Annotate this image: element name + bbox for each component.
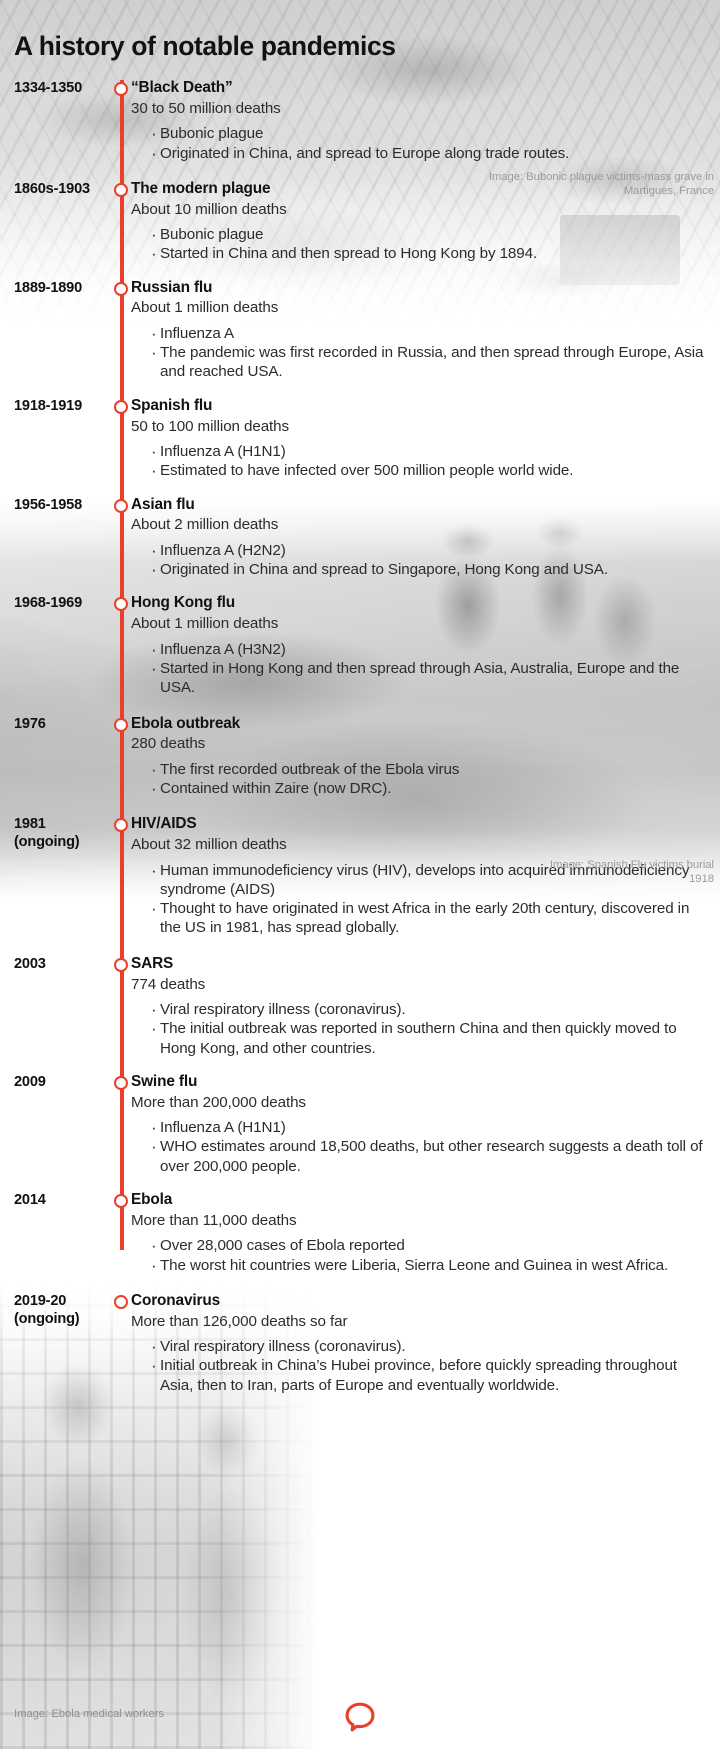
timeline-event: 1976Ebola outbreak280 deathsThe first re…	[0, 715, 720, 803]
timeline-event: 2009Swine fluMore than 200,000 deathsInf…	[0, 1073, 720, 1180]
event-detail-list: Influenza A (H1N1)WHO estimates around 1…	[131, 1118, 712, 1176]
event-detail-list: Influenza AThe pandemic was first record…	[131, 324, 712, 382]
event-detail-item: The worst hit countries were Liberia, Si…	[151, 1256, 712, 1275]
event-detail-item: Over 28,000 cases of Ebola reported	[151, 1236, 712, 1255]
event-detail-item: Initial outbreak in China’s Hubei provin…	[151, 1356, 712, 1395]
event-detail-list: Viral respiratory illness (coronavirus).…	[131, 1000, 712, 1058]
timeline-event: 2003SARS774 deathsViral respiratory illn…	[0, 955, 720, 1062]
event-detail-item: Originated in China and spread to Singap…	[151, 560, 712, 579]
photo-credit-ebola: Image: Ebola medical workers	[14, 1707, 194, 1721]
timeline-marker-icon	[114, 499, 128, 513]
event-name: SARS	[131, 955, 712, 974]
timeline-event: 1860s-1903The modern plagueAbout 10 mill…	[0, 180, 720, 268]
event-year: 2009	[0, 1074, 106, 1092]
event-detail-item: Thought to have originated in west Afric…	[151, 899, 712, 938]
event-year: 1976	[0, 716, 106, 734]
event-year: 1334-1350	[0, 80, 106, 98]
timeline-marker-icon	[114, 1076, 128, 1090]
event-detail-list: Influenza A (H3N2)Started in Hong Kong a…	[131, 640, 712, 698]
timeline-event: 2019-20 (ongoing)CoronavirusMore than 12…	[0, 1292, 720, 1399]
event-name: Ebola	[131, 1191, 712, 1210]
event-year: 1981 (ongoing)	[0, 816, 106, 852]
timeline-marker-icon	[114, 1295, 128, 1309]
event-year: 1860s-1903	[0, 181, 106, 199]
event-death-toll: About 2 million deaths	[131, 515, 712, 534]
timeline-event: 1334-1350“Black Death”30 to 50 million d…	[0, 79, 720, 167]
timeline-marker-icon	[114, 400, 128, 414]
event-death-toll: More than 126,000 deaths so far	[131, 1312, 712, 1331]
event-death-toll: More than 11,000 deaths	[131, 1211, 712, 1230]
event-death-toll: About 1 million deaths	[131, 298, 712, 317]
timeline-event-list: 1334-1350“Black Death”30 to 50 million d…	[0, 79, 720, 1399]
event-detail-item: Viral respiratory illness (coronavirus).	[151, 1000, 712, 1019]
timeline-event: 1918-1919Spanish flu50 to 100 million de…	[0, 397, 720, 485]
event-name: HIV/AIDS	[131, 815, 712, 834]
event-body: Asian fluAbout 2 million deathsInfluenza…	[131, 496, 720, 580]
event-detail-item: Bubonic plague	[151, 225, 712, 244]
event-year: 2003	[0, 956, 106, 974]
event-body: Spanish flu50 to 100 million deathsInflu…	[131, 397, 720, 481]
event-detail-item: WHO estimates around 18,500 deaths, but …	[151, 1137, 712, 1176]
event-body: CoronavirusMore than 126,000 deaths so f…	[131, 1292, 720, 1395]
event-name: Ebola outbreak	[131, 715, 712, 734]
timeline-marker-icon	[114, 597, 128, 611]
event-death-toll: About 32 million deaths	[131, 835, 712, 854]
timeline-event: 1968-1969Hong Kong fluAbout 1 million de…	[0, 594, 720, 701]
timeline-rail	[120, 80, 124, 1250]
event-year: 2019-20 (ongoing)	[0, 1293, 106, 1329]
event-body: Russian fluAbout 1 million deathsInfluen…	[131, 279, 720, 382]
page-title: A history of notable pandemics	[0, 18, 720, 61]
timeline-marker-icon	[114, 718, 128, 732]
event-detail-item: The initial outbreak was reported in sou…	[151, 1019, 712, 1058]
event-death-toll: About 10 million deaths	[131, 200, 712, 219]
event-name: Russian flu	[131, 279, 712, 298]
event-detail-item: Started in Hong Kong and then spread thr…	[151, 659, 712, 698]
event-death-toll: 280 deaths	[131, 734, 712, 753]
event-detail-item: Contained within Zaire (now DRC).	[151, 779, 712, 798]
event-death-toll: 30 to 50 million deaths	[131, 99, 712, 118]
event-death-toll: 774 deaths	[131, 975, 712, 994]
event-year: 1956-1958	[0, 497, 106, 515]
event-body: Hong Kong fluAbout 1 million deathsInflu…	[131, 594, 720, 697]
event-detail-item: Influenza A	[151, 324, 712, 343]
event-death-toll: More than 200,000 deaths	[131, 1093, 712, 1112]
event-name: Spanish flu	[131, 397, 712, 416]
event-detail-item: Influenza A (H2N2)	[151, 541, 712, 560]
timeline-marker-icon	[114, 958, 128, 972]
event-detail-item: Human immunodeficiency virus (HIV), deve…	[151, 861, 712, 900]
event-name: Hong Kong flu	[131, 594, 712, 613]
timeline-event: 1889-1890Russian fluAbout 1 million deat…	[0, 279, 720, 386]
event-body: HIV/AIDSAbout 32 million deathsHuman imm…	[131, 815, 720, 937]
event-name: “Black Death”	[131, 79, 712, 98]
event-detail-item: Estimated to have infected over 500 mill…	[151, 461, 712, 480]
event-detail-list: Viral respiratory illness (coronavirus).…	[131, 1337, 712, 1395]
timeline-event: 2014EbolaMore than 11,000 deathsOver 28,…	[0, 1191, 720, 1279]
event-detail-list: The first recorded outbreak of the Ebola…	[131, 760, 712, 799]
event-death-toll: 50 to 100 million deaths	[131, 417, 712, 436]
event-detail-item: The first recorded outbreak of the Ebola…	[151, 760, 712, 779]
timeline-marker-icon	[114, 82, 128, 96]
event-detail-item: Bubonic plague	[151, 124, 712, 143]
event-death-toll: About 1 million deaths	[131, 614, 712, 633]
event-year: 1918-1919	[0, 398, 106, 416]
event-body: “Black Death”30 to 50 million deathsBubo…	[131, 79, 720, 163]
event-body: The modern plagueAbout 10 million deaths…	[131, 180, 720, 264]
timeline-marker-icon	[114, 1194, 128, 1208]
event-detail-item: Influenza A (H1N1)	[151, 1118, 712, 1137]
event-name: The modern plague	[131, 180, 712, 199]
event-detail-list: Bubonic plagueOriginated in China, and s…	[131, 124, 712, 163]
pandemic-timeline-infographic: A history of notable pandemics 1334-1350…	[0, 0, 720, 1749]
infographic-content: A history of notable pandemics 1334-1350…	[0, 18, 720, 1399]
event-detail-list: Over 28,000 cases of Ebola reportedThe w…	[131, 1236, 712, 1275]
event-year: 2014	[0, 1192, 106, 1210]
event-detail-item: Started in China and then spread to Hong…	[151, 244, 712, 263]
event-year: 1968-1969	[0, 595, 106, 613]
event-detail-list: Bubonic plagueStarted in China and then …	[131, 225, 712, 264]
event-body: Swine fluMore than 200,000 deathsInfluen…	[131, 1073, 720, 1176]
event-body: EbolaMore than 11,000 deathsOver 28,000 …	[131, 1191, 720, 1275]
timeline-event: 1956-1958Asian fluAbout 2 million deaths…	[0, 496, 720, 584]
event-name: Swine flu	[131, 1073, 712, 1092]
event-detail-item: Influenza A (H1N1)	[151, 442, 712, 461]
timeline-event: 1981 (ongoing)HIV/AIDSAbout 32 million d…	[0, 815, 720, 941]
event-detail-list: Human immunodeficiency virus (HIV), deve…	[131, 861, 712, 938]
event-name: Asian flu	[131, 496, 712, 515]
event-detail-item: Originated in China, and spread to Europ…	[151, 144, 712, 163]
event-body: SARS774 deathsViral respiratory illness …	[131, 955, 720, 1058]
speech-bubble-logo	[343, 1701, 377, 1733]
timeline-marker-icon	[114, 183, 128, 197]
event-detail-item: Influenza A (H3N2)	[151, 640, 712, 659]
event-detail-item: The pandemic was first recorded in Russi…	[151, 343, 712, 382]
event-name: Coronavirus	[131, 1292, 712, 1311]
event-body: Ebola outbreak280 deathsThe first record…	[131, 715, 720, 799]
event-detail-list: Influenza A (H1N1)Estimated to have infe…	[131, 442, 712, 481]
timeline-marker-icon	[114, 818, 128, 832]
event-detail-item: Viral respiratory illness (coronavirus).	[151, 1337, 712, 1356]
timeline-marker-icon	[114, 282, 128, 296]
event-year: 1889-1890	[0, 280, 106, 298]
event-detail-list: Influenza A (H2N2)Originated in China an…	[131, 541, 712, 580]
